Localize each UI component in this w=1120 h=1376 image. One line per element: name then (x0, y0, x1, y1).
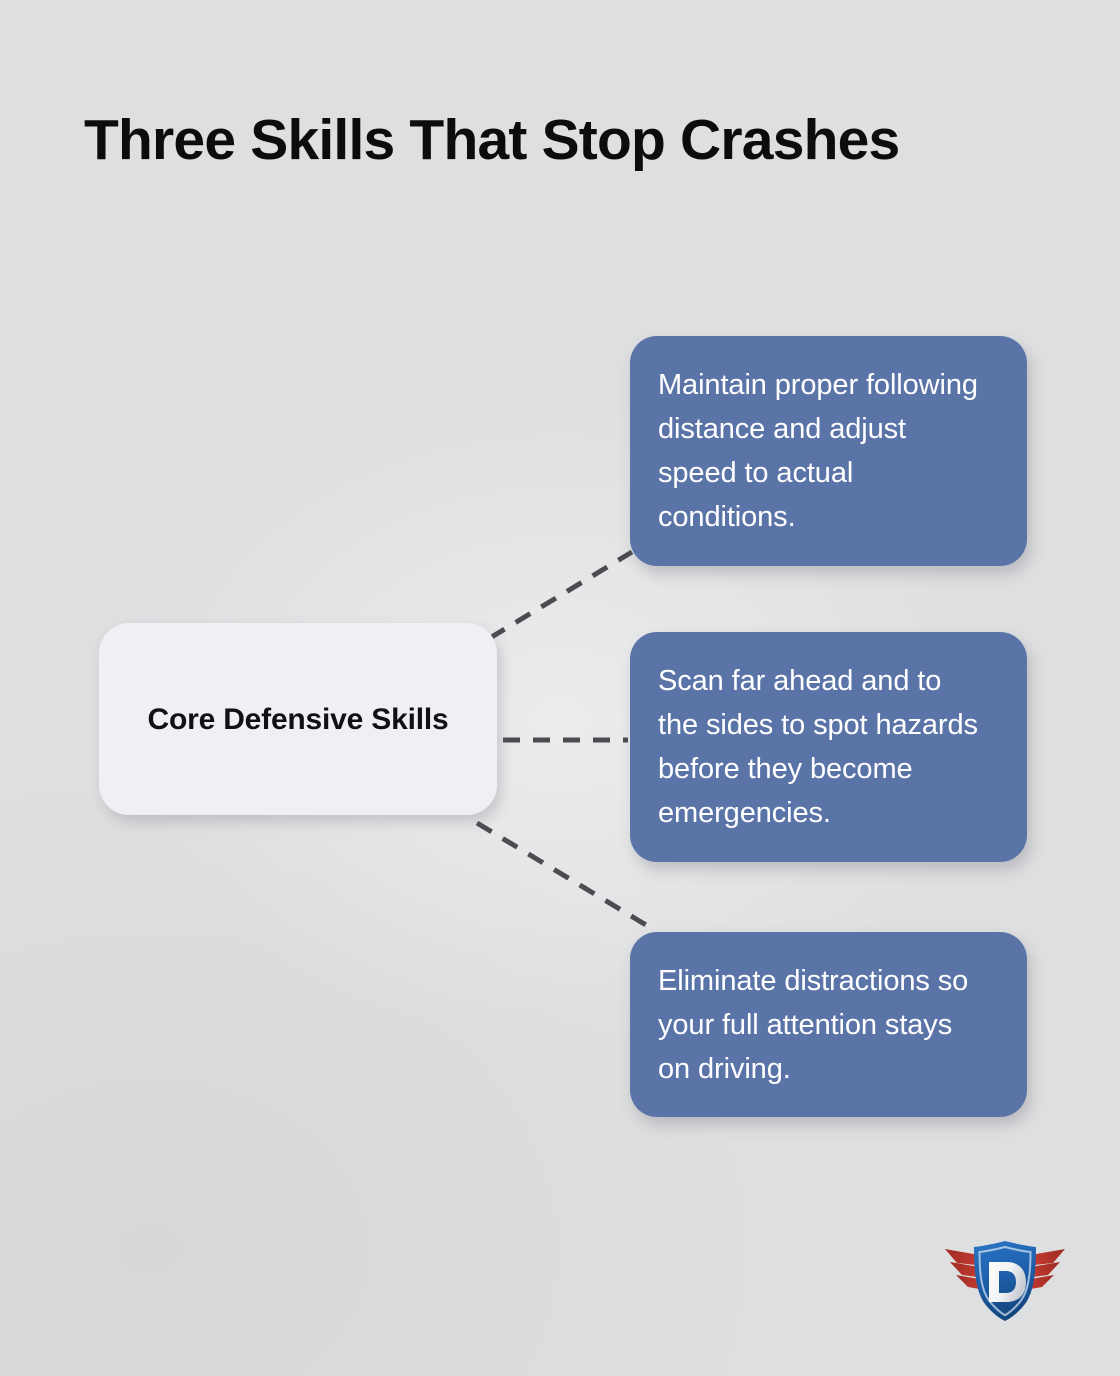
infographic-canvas: Three Skills That Stop Crashes Core Defe… (0, 0, 1120, 1376)
branch-box-1[interactable]: Maintain proper following distance and a… (630, 336, 1027, 566)
shield-wings-logo (941, 1236, 1069, 1326)
branch-box-2[interactable]: Scan far ahead and to the sides to spot … (630, 632, 1027, 862)
page-title: Three Skills That Stop Crashes (84, 104, 1044, 176)
branch-box-3-text: Eliminate distractions so your full atte… (658, 959, 987, 1091)
central-node[interactable]: Core Defensive Skills (99, 623, 497, 815)
connector-center-to-branch-3 (477, 823, 646, 925)
central-node-label: Core Defensive Skills (148, 698, 449, 741)
branch-box-3[interactable]: Eliminate distractions so your full atte… (630, 932, 1027, 1117)
branch-box-1-text: Maintain proper following distance and a… (658, 363, 987, 539)
branch-box-2-text: Scan far ahead and to the sides to spot … (658, 659, 987, 835)
logo-shield-icon (974, 1241, 1036, 1321)
connector-center-to-branch-1 (490, 552, 632, 638)
